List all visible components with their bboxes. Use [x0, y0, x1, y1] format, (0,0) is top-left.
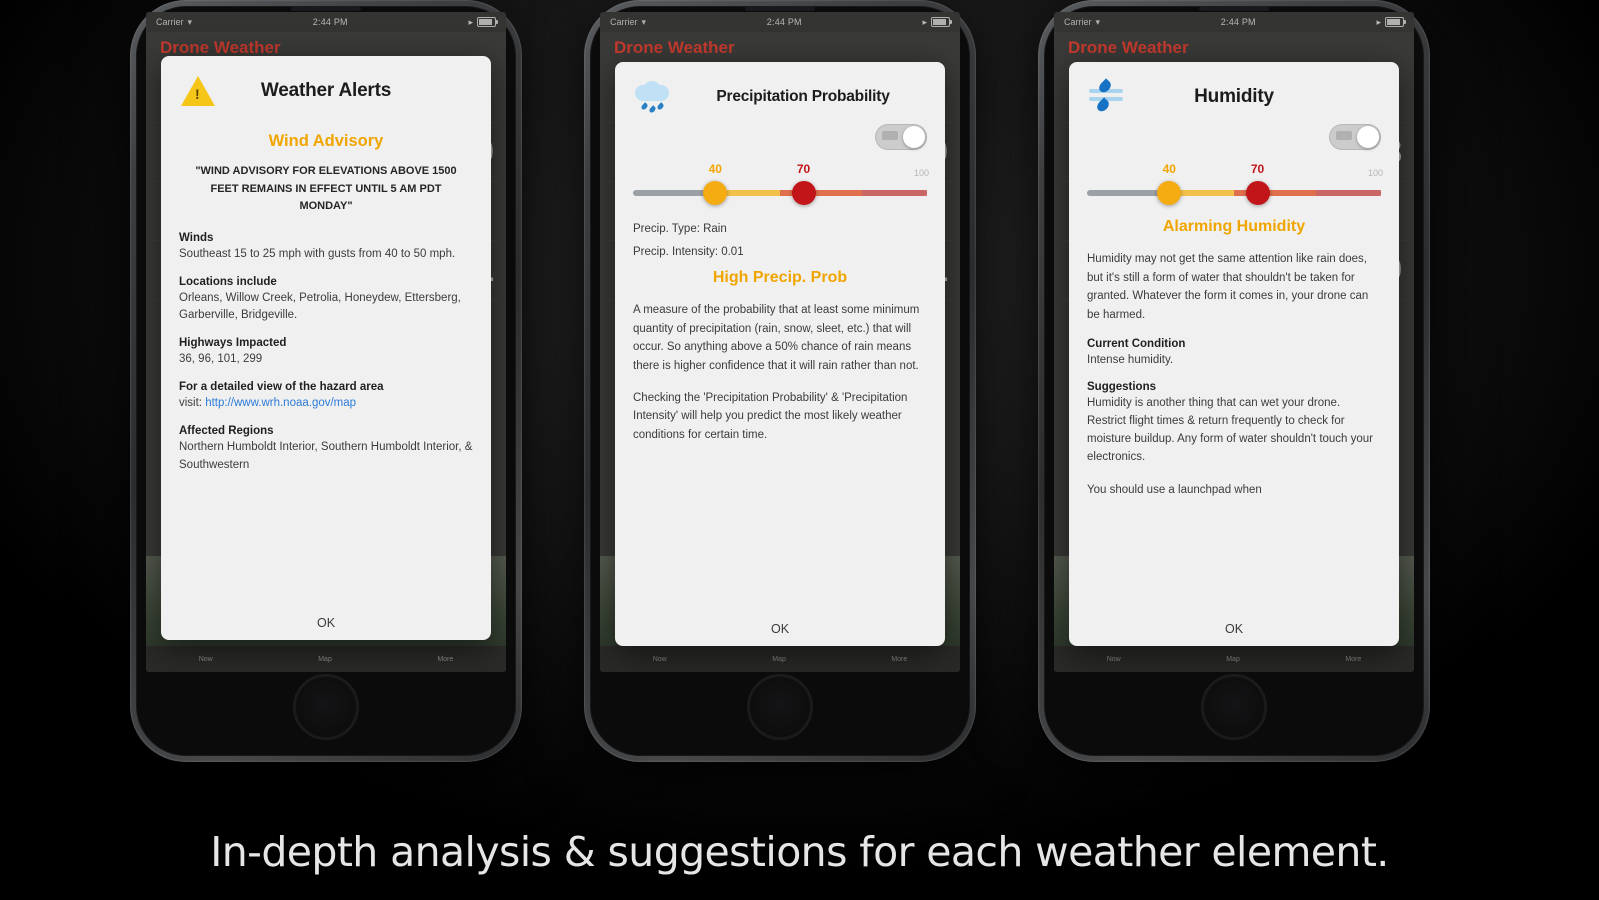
page-title: Precipitation Probability — [679, 88, 927, 106]
precip-type-key: Precip. Type: — [633, 223, 700, 235]
status-bar-time: 2:44 PM — [192, 17, 468, 27]
section-text: Southeast 15 to 25 mph with gusts from 4… — [179, 246, 473, 264]
status-bar-right: ▸ — [922, 17, 950, 28]
section-heading: For a detailed view of the hazard area — [179, 381, 473, 393]
status-bar-left: Carrier ▾ — [156, 17, 192, 28]
status-bar: Carrier ▾ 2:44 PM ▸ — [146, 12, 506, 32]
tab-bar: Now Map More — [600, 646, 960, 672]
phone-bezel-1: Carrier ▾ 2:44 PM ▸ Drone Weather ✕ Flig… — [136, 6, 516, 756]
phone-device-2: Carrier ▾ 2:44 PM ▸ Drone Weather ✕ Flig… — [584, 0, 976, 762]
slider-knob-high[interactable] — [792, 181, 816, 205]
precip-intensity-key: Precip. Intensity: — [633, 246, 718, 258]
humidity-toggle[interactable] — [1329, 124, 1381, 150]
earpiece-speaker — [745, 6, 815, 11]
slider-knob-high[interactable] — [1246, 181, 1270, 205]
precip-intensity-value: 0.01 — [721, 246, 743, 258]
location-arrow-icon: ▸ — [922, 17, 927, 28]
section-text: Intense humidity. — [1087, 352, 1381, 370]
status-bar: Carrier ▾ 2:44 PM ▸ — [600, 12, 960, 32]
phone-screen-3: Carrier ▾ 2:44 PM ▸ Drone Weather ✕ Flig… — [1054, 12, 1414, 672]
phone-screen-1: Carrier ▾ 2:44 PM ▸ Drone Weather ✕ Flig… — [146, 12, 506, 672]
phone-bezel-2: Carrier ▾ 2:44 PM ▸ Drone Weather ✕ Flig… — [590, 6, 970, 756]
phone-bezel-3: Carrier ▾ 2:44 PM ▸ Drone Weather ✕ Flig… — [1044, 6, 1424, 756]
page-title: Humidity — [1133, 86, 1335, 108]
section-heading: Current Condition — [1087, 338, 1381, 350]
tab-more[interactable]: More — [891, 656, 907, 663]
section-heading: Highways Impacted — [179, 337, 473, 349]
status-bar-time: 2:44 PM — [1100, 17, 1376, 27]
phone-device-1: Carrier ▾ 2:44 PM ▸ Drone Weather ✕ Flig… — [130, 0, 522, 762]
warning-triangle-icon — [179, 72, 217, 110]
status-badge: Alarming Humidity — [1087, 218, 1381, 236]
slider-high-value: 70 — [797, 162, 810, 176]
page-title: Weather Alerts — [225, 80, 427, 102]
location-arrow-icon: ▸ — [468, 17, 473, 28]
section-heading: Affected Regions — [179, 425, 473, 437]
section-text: visit: http://www.wrh.noaa.gov/map — [179, 395, 473, 413]
toggle-knob — [903, 126, 925, 148]
toggle-track-label — [1336, 131, 1352, 140]
precip-range-slider[interactable]: 40 70 100 — [633, 156, 927, 212]
carrier-label: Carrier — [610, 17, 638, 27]
ok-button[interactable]: OK — [161, 616, 491, 630]
precip-toggle[interactable] — [875, 124, 927, 150]
alert-name: Wind Advisory — [179, 132, 473, 151]
rain-cloud-icon — [633, 78, 671, 116]
status-bar-left: Carrier ▾ — [610, 17, 646, 28]
precipitation-probability-dialog: Precipitation Probability 40 70 100 — [615, 62, 945, 646]
tip-paragraph: Checking the 'Precipitation Probability'… — [633, 389, 927, 445]
hazard-map-link[interactable]: http://www.wrh.noaa.gov/map — [205, 397, 356, 409]
section-heading: Locations include — [179, 276, 473, 288]
battery-icon — [477, 17, 496, 27]
section-heading: Suggestions — [1087, 381, 1381, 393]
tab-more[interactable]: More — [437, 656, 453, 663]
tab-now[interactable]: Now — [653, 656, 667, 663]
tab-map[interactable]: Map — [318, 656, 332, 663]
dialog-header: Weather Alerts — [179, 70, 473, 112]
promo-caption: In-depth analysis & suggestions for each… — [0, 828, 1599, 876]
slider-low-value: 40 — [1163, 162, 1176, 176]
slider-low-value: 40 — [709, 162, 722, 176]
slider-knob-low[interactable] — [1157, 181, 1181, 205]
precip-type-row: Precip. Type: Rain — [633, 223, 927, 235]
earpiece-speaker — [291, 6, 361, 11]
background-app-title: Drone Weather — [608, 36, 952, 64]
tab-now[interactable]: Now — [1107, 656, 1121, 663]
alert-quote: "WIND ADVISORY FOR ELEVATIONS ABOVE 1500… — [183, 163, 469, 216]
background-app-title: Drone Weather — [1062, 36, 1406, 64]
home-button[interactable] — [1201, 674, 1267, 740]
toggle-track-label — [882, 131, 898, 140]
humidity-range-slider[interactable]: 40 70 100 — [1087, 156, 1381, 212]
toggle-knob — [1357, 126, 1379, 148]
slider-knob-low[interactable] — [703, 181, 727, 205]
tab-map[interactable]: Map — [772, 656, 786, 663]
description-paragraph: A measure of the probability that at lea… — [633, 301, 927, 376]
tail-paragraph: You should use a launchpad when — [1087, 481, 1381, 500]
home-button[interactable] — [747, 674, 813, 740]
ok-button[interactable]: OK — [615, 622, 945, 636]
weather-alerts-dialog: Weather Alerts Wind Advisory "WIND ADVIS… — [161, 56, 491, 640]
ok-button[interactable]: OK — [1069, 622, 1399, 636]
status-bar-right: ▸ — [1376, 17, 1404, 28]
tab-map[interactable]: Map — [1226, 656, 1240, 663]
dialog-header: Precipitation Probability — [633, 76, 927, 118]
header-spacer — [435, 72, 473, 110]
tab-now[interactable]: Now — [199, 656, 213, 663]
dialog-header: Humidity — [1087, 76, 1381, 118]
promo-screenshot-stage: Carrier ▾ 2:44 PM ▸ Drone Weather ✕ Flig… — [0, 0, 1599, 900]
status-bar-right: ▸ — [468, 17, 496, 28]
tab-more[interactable]: More — [1345, 656, 1361, 663]
carrier-label: Carrier — [1064, 17, 1092, 27]
earpiece-speaker — [1199, 6, 1269, 11]
slider-high-value: 70 — [1251, 162, 1264, 176]
phone-screen-2: Carrier ▾ 2:44 PM ▸ Drone Weather ✕ Flig… — [600, 12, 960, 672]
battery-icon — [1385, 17, 1404, 27]
slider-end-value: 100 — [914, 168, 929, 178]
tab-bar: Now Map More — [146, 646, 506, 672]
header-spacer — [1343, 78, 1381, 116]
carrier-label: Carrier — [156, 17, 184, 27]
section-text: Orleans, Willow Creek, Petrolia, Honeyde… — [179, 290, 473, 326]
precip-type-value: Rain — [703, 223, 727, 235]
status-bar-left: Carrier ▾ — [1064, 17, 1100, 28]
status-bar-time: 2:44 PM — [646, 17, 922, 27]
status-badge: High Precip. Prob — [633, 269, 927, 287]
humidity-icon — [1087, 78, 1125, 116]
location-arrow-icon: ▸ — [1376, 17, 1381, 28]
section-text: Northern Humboldt Interior, Southern Hum… — [179, 439, 473, 475]
section-text: 36, 96, 101, 299 — [179, 351, 473, 369]
intro-paragraph: Humidity may not get the same attention … — [1087, 250, 1381, 325]
tab-bar: Now Map More — [1054, 646, 1414, 672]
slider-end-value: 100 — [1368, 168, 1383, 178]
section-text: Humidity is another thing that can wet y… — [1087, 395, 1381, 466]
slider-track — [1087, 190, 1381, 196]
visit-label: visit: — [179, 397, 205, 409]
battery-icon — [931, 17, 950, 27]
section-heading: Winds — [179, 232, 473, 244]
home-button[interactable] — [293, 674, 359, 740]
precip-intensity-row: Precip. Intensity: 0.01 — [633, 246, 927, 258]
status-bar: Carrier ▾ 2:44 PM ▸ — [1054, 12, 1414, 32]
humidity-dialog: Humidity 40 70 100 — [1069, 62, 1399, 646]
phone-device-3: Carrier ▾ 2:44 PM ▸ Drone Weather ✕ Flig… — [1038, 0, 1430, 762]
slider-track — [633, 190, 927, 196]
